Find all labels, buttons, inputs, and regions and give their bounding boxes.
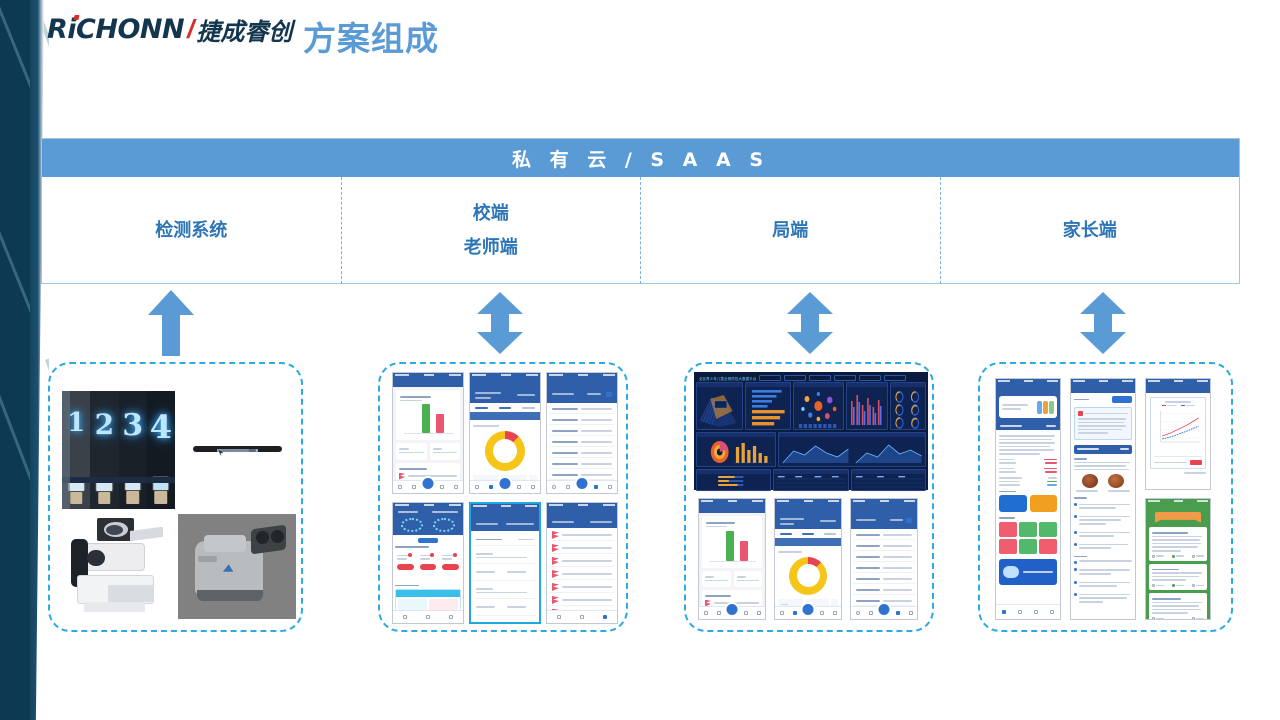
screen-parent-home[interactable] bbox=[995, 378, 1061, 620]
bi-rank-table-1 bbox=[773, 469, 848, 491]
optometry-device-photo bbox=[64, 514, 174, 619]
screen-class-list[interactable] bbox=[546, 372, 618, 494]
parent-app-panel[interactable] bbox=[978, 362, 1233, 632]
bi-rank-table-2 bbox=[851, 469, 926, 491]
page-title: 方案组成 bbox=[303, 12, 439, 60]
bi-header: 全区青少年儿童近视防控大数据平台 bbox=[696, 374, 926, 382]
screen-notice-list[interactable] bbox=[546, 502, 618, 624]
bi-donut-and-bars bbox=[696, 432, 776, 467]
handheld-vision-tester-photo bbox=[178, 514, 296, 619]
column-parent-label: 家长端 bbox=[1063, 221, 1117, 241]
arrow-parent bbox=[1080, 292, 1126, 354]
bi-bubble-heatmap bbox=[793, 382, 844, 430]
school-teacher-app-panel[interactable] bbox=[378, 362, 628, 632]
bi-gauge-cluster bbox=[890, 382, 926, 430]
arrow-detection bbox=[148, 290, 194, 356]
detection-hardware-panel[interactable]: 1 2 3 4 bbox=[48, 362, 303, 632]
bi-dual-bar-chart bbox=[846, 382, 888, 430]
bureau-dashboard-panel[interactable]: 全区青少年儿童近视防控大数据平台 bbox=[684, 362, 934, 632]
column-school-label-1: 校端 bbox=[473, 204, 509, 224]
screen-green-quiz[interactable] bbox=[1145, 498, 1211, 620]
bi-surface-chart bbox=[696, 382, 743, 430]
screen-eye-report[interactable] bbox=[1070, 378, 1136, 620]
architecture-columns: 检测系统 校端 老师端 局端 家长端 bbox=[42, 177, 1239, 284]
screen-statistics-donut[interactable] bbox=[469, 372, 541, 494]
screen-class-list[interactable] bbox=[850, 498, 918, 620]
screen-trend-chart[interactable] bbox=[1145, 378, 1211, 490]
slide-canvas: RiCHONN / 捷成睿创 方案组成 私 有 云 / S A A S 检测系统… bbox=[0, 0, 1280, 720]
arrow-school bbox=[477, 292, 523, 354]
architecture-table: 私 有 云 / S A A S 检测系统 校端 老师端 局端 家长端 bbox=[41, 138, 1240, 284]
column-detection-label: 检测系统 bbox=[155, 221, 227, 241]
desktop-monitor-photo bbox=[180, 394, 295, 504]
column-parent[interactable]: 家长端 bbox=[940, 177, 1240, 284]
column-bureau-label: 局端 bbox=[772, 221, 808, 241]
brand-logo: RiCHONN / 捷成睿创 bbox=[47, 13, 292, 45]
column-detection[interactable]: 检测系统 bbox=[42, 177, 341, 284]
bi-title: 全区青少年儿童近视防控大数据平台 bbox=[699, 376, 756, 381]
arrow-bureau bbox=[787, 292, 833, 354]
screen-inspection-report[interactable] bbox=[392, 372, 464, 494]
bi-horizontal-bars bbox=[745, 382, 792, 430]
logo-wordmark: RiCHONN bbox=[47, 14, 184, 45]
screen-vision-gauge[interactable] bbox=[392, 502, 464, 624]
bi-area-charts bbox=[778, 432, 926, 467]
bi-progress-list bbox=[696, 469, 771, 491]
bi-big-screen-dashboard[interactable]: 全区青少年儿童近视防控大数据平台 bbox=[694, 372, 928, 490]
screen-statistics-donut[interactable] bbox=[774, 498, 842, 620]
screen-inspection-report[interactable] bbox=[698, 498, 766, 620]
cloud-banner-label: 私 有 云 / S A A S bbox=[512, 145, 769, 172]
vision-screening-booths-photo: 1 2 3 4 bbox=[62, 391, 175, 509]
logo-chinese-name: 捷成睿创 bbox=[196, 12, 292, 47]
column-bureau[interactable]: 局端 bbox=[640, 177, 940, 284]
column-school[interactable]: 校端 老师端 bbox=[341, 177, 641, 284]
cloud-banner: 私 有 云 / S A A S bbox=[42, 139, 1239, 177]
column-school-label-2: 老师端 bbox=[464, 238, 518, 258]
left-decorative-band bbox=[0, 0, 30, 720]
screen-detail-record[interactable] bbox=[469, 502, 541, 624]
logo-separator: / bbox=[187, 14, 194, 45]
